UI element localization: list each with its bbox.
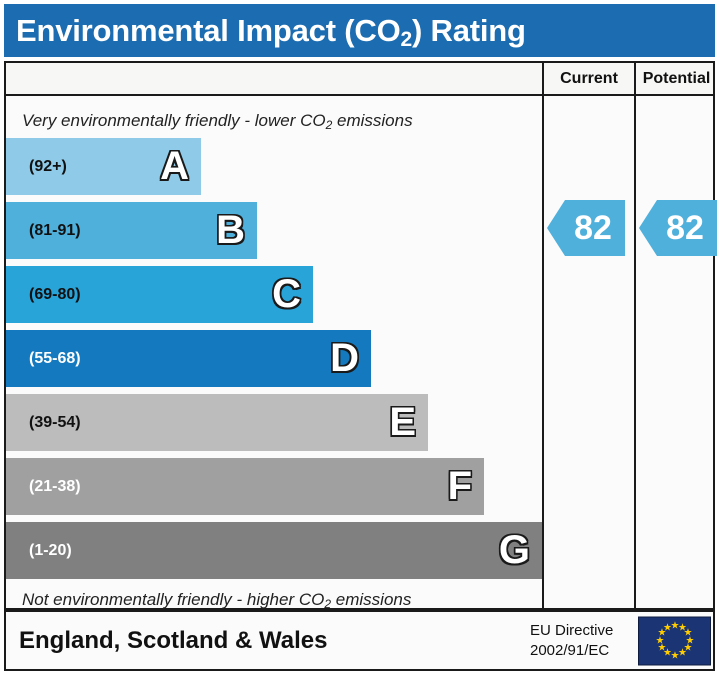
- column-header-row: Current Potential: [6, 63, 713, 96]
- descriptor-top-subscript: 2: [326, 118, 333, 132]
- rating-band-e: (39-54)E: [6, 394, 428, 451]
- footer-region-label: England, Scotland & Wales: [19, 627, 327, 655]
- rating-band-a: (92+)A: [6, 138, 201, 195]
- rating-band-letter-a: A: [160, 146, 189, 186]
- rating-band-range-g: (1-20): [29, 542, 72, 560]
- eu-directive-line1: EU Directive: [530, 620, 613, 640]
- eu-directive-label: EU Directive 2002/91/EC: [530, 620, 613, 661]
- page-title: Environmental Impact (CO2) Rating: [16, 13, 526, 49]
- rating-band-g: (1-20)G: [6, 522, 542, 579]
- rating-band-range-b: (81-91): [29, 222, 81, 240]
- footer-bar: England, Scotland & Wales EU Directive 2…: [4, 610, 715, 671]
- epc-environmental-impact-certificate: Environmental Impact (CO2) Rating Curren…: [0, 0, 719, 675]
- rating-band-range-a: (92+): [29, 158, 67, 176]
- rating-band-letter-c: C: [272, 274, 301, 314]
- page-title-text-tail: ) Rating: [412, 13, 526, 48]
- descriptor-bottom: Not environmentally friendly - higher CO…: [22, 590, 532, 610]
- column-header-current: Current: [544, 63, 634, 94]
- rating-band-c: (69-80)C: [6, 266, 313, 323]
- column-header-potential: Potential: [636, 63, 717, 94]
- rating-band-range-d: (55-68): [29, 350, 81, 368]
- descriptor-bottom-text-main: Not environmentally friendly - higher CO: [22, 590, 324, 609]
- column-divider-current: [542, 63, 544, 608]
- rating-band-b: (81-91)B: [6, 202, 257, 259]
- rating-band-letter-d: D: [330, 338, 359, 378]
- rating-table: Current Potential Very environmentally f…: [4, 61, 715, 610]
- rating-band-f: (21-38)F: [6, 458, 484, 515]
- descriptor-bottom-text-tail: emissions: [331, 590, 411, 609]
- descriptor-top-text-main: Very environmentally friendly - lower CO: [22, 111, 326, 130]
- eu-directive-line2: 2002/91/EC: [530, 641, 613, 661]
- column-divider-potential: [634, 63, 636, 608]
- rating-bands: (92+)A(81-91)B(69-80)C(55-68)D(39-54)E(2…: [6, 138, 540, 584]
- rating-band-letter-e: E: [389, 402, 416, 442]
- rating-band-d: (55-68)D: [6, 330, 371, 387]
- eu-flag-icon: [638, 616, 711, 665]
- descriptor-top: Very environmentally friendly - lower CO…: [22, 111, 532, 131]
- rating-band-letter-f: F: [448, 466, 472, 506]
- page-title-subscript: 2: [401, 28, 412, 51]
- rating-band-letter-b: B: [216, 210, 245, 250]
- descriptor-bottom-subscript: 2: [324, 597, 331, 611]
- page-title-text-main: Environmental Impact (CO: [16, 13, 401, 48]
- header-bar: Environmental Impact (CO2) Rating: [4, 4, 715, 57]
- rating-band-range-c: (69-80): [29, 286, 81, 304]
- descriptor-top-text-tail: emissions: [332, 111, 412, 130]
- rating-band-range-f: (21-38): [29, 478, 81, 496]
- rating-band-letter-g: G: [499, 530, 530, 570]
- rating-band-range-e: (39-54): [29, 414, 81, 432]
